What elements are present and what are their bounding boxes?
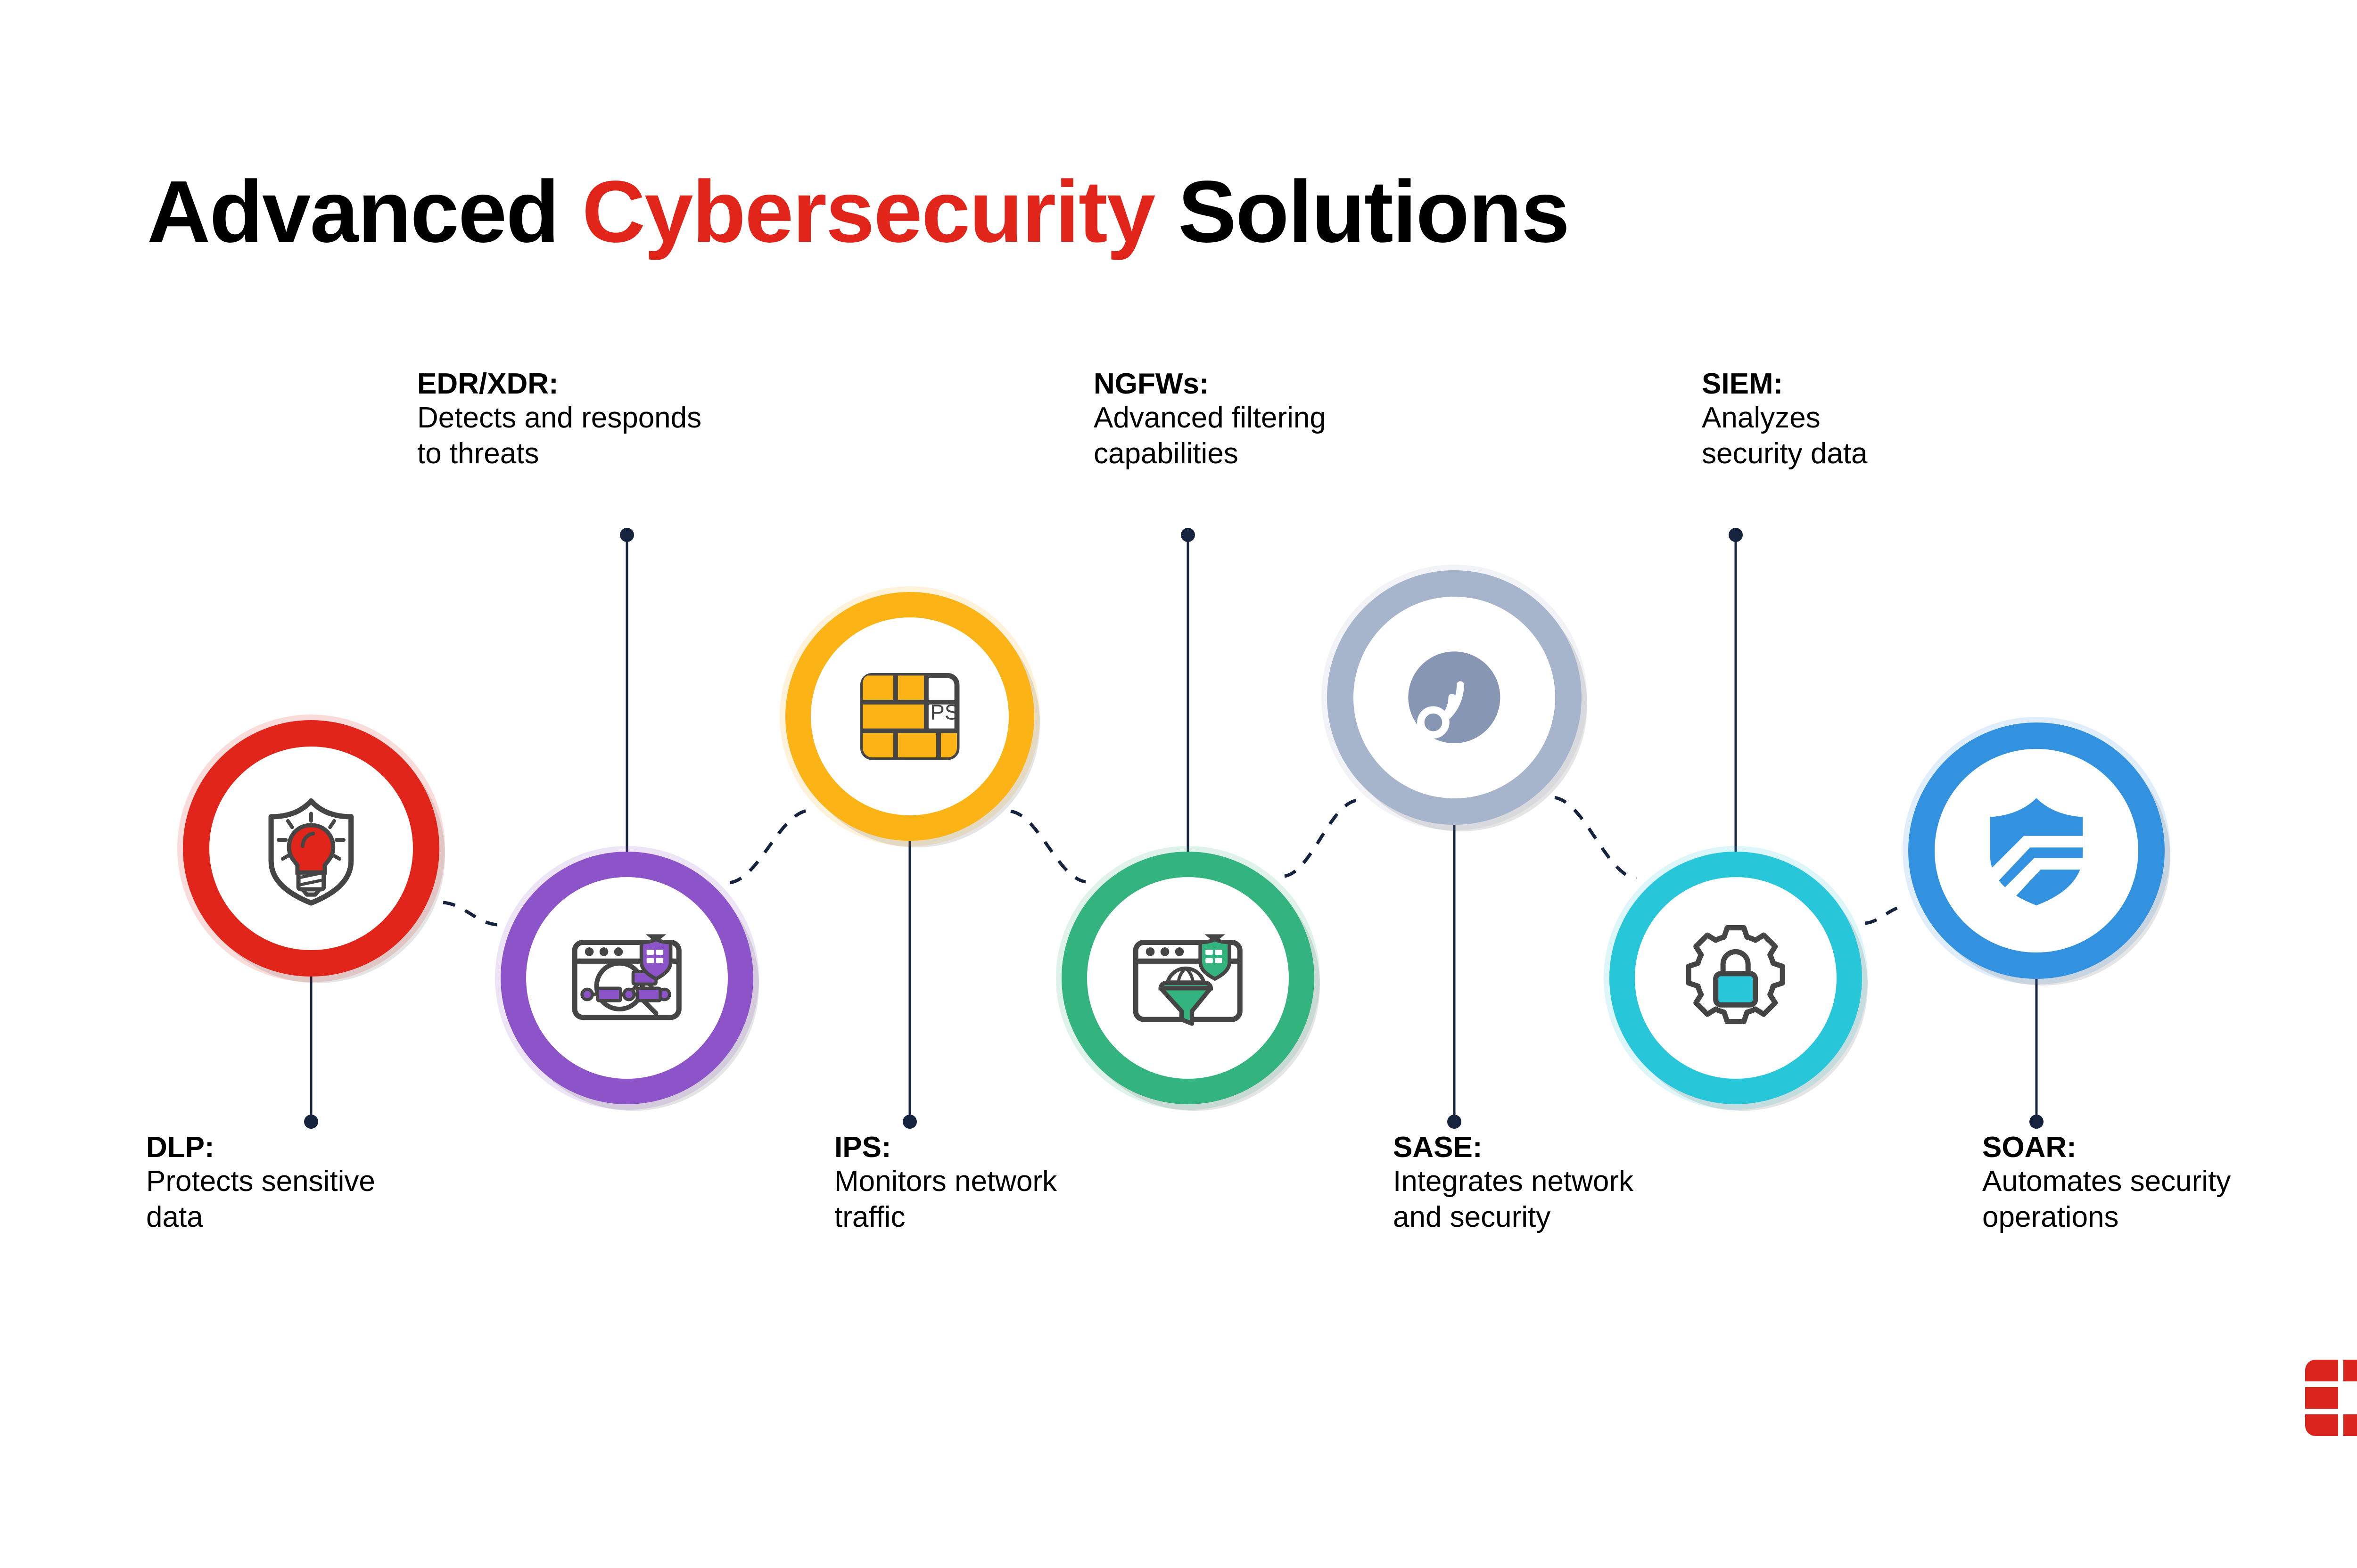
leader-dot-end-siem: [1729, 528, 1743, 542]
leader-dot-end-sase: [1447, 1115, 1461, 1129]
leader-dot-end-ips: [903, 1115, 917, 1129]
callout-heading-dlp: DLP:: [146, 1131, 375, 1164]
arc-sase-to-siem: [1555, 797, 1636, 879]
browser-globe-funnel-shield-icon: [1125, 915, 1250, 1040]
callout-sase: SASE:Integrates network and security: [1393, 1131, 1633, 1235]
callout-body-soar: Automates security operations: [1982, 1164, 2231, 1235]
node-circle-soar[interactable]: [1908, 722, 2165, 979]
leader-dot-end-soar: [2029, 1115, 2044, 1129]
callout-body-ips: Monitors network traffic: [834, 1164, 1057, 1235]
logo-cell: [2343, 1360, 2357, 1381]
callout-dlp: DLP:Protects sensitive data: [146, 1131, 375, 1235]
arc-ips-to-ngfws: [1011, 811, 1086, 882]
shield-stripes-icon: [1973, 788, 2100, 914]
signal-waves-sphere-icon: [1392, 635, 1516, 760]
browser-network-shield-icon: [564, 915, 689, 1040]
callout-heading-ips: IPS:: [834, 1131, 1057, 1164]
node-circle-dlp[interactable]: [183, 720, 439, 977]
arc-siem-to-soar: [1865, 906, 1905, 923]
callout-body-sase: Integrates network and security: [1393, 1164, 1633, 1235]
arc-dlp-to-edr-xdr: [443, 903, 497, 925]
callout-heading-siem: SIEM:: [1702, 368, 1868, 400]
callout-soar: SOAR:Automates security operations: [1982, 1131, 2231, 1235]
node-circle-edr-xdr[interactable]: [501, 852, 753, 1104]
callout-heading-sase: SASE:: [1393, 1131, 1633, 1164]
callout-body-edr-xdr: Detects and responds to threats: [417, 400, 701, 471]
callout-ngfws: NGFWs:Advanced filtering capabilities: [1094, 368, 1326, 472]
callout-heading-soar: SOAR:: [1982, 1131, 2231, 1164]
infographic-stage: IPSDLP:Protects sensitive dataEDR/XDR:De…: [0, 0, 2357, 1568]
svg-text:IPS: IPS: [924, 700, 959, 724]
callout-edr-xdr: EDR/XDR:Detects and responds to threats: [417, 368, 701, 472]
leader-dot-end-ngfws: [1181, 528, 1195, 542]
node-circle-sase[interactable]: [1327, 570, 1582, 825]
logo-cell: [2343, 1414, 2357, 1436]
callout-body-ngfws: Advanced filtering capabilities: [1094, 400, 1326, 471]
node-circle-ips[interactable]: IPS: [785, 592, 1034, 841]
firewall-brick-ips-icon: IPS: [849, 655, 971, 778]
arc-ngfws-to-sase: [1285, 800, 1357, 876]
callout-body-siem: Analyzes security data: [1702, 400, 1868, 471]
node-circle-siem[interactable]: [1609, 852, 1862, 1104]
gear-padlock-icon: [1673, 915, 1798, 1040]
callout-body-dlp: Protects sensitive data: [146, 1164, 375, 1235]
shield-lightbulb-icon: [248, 785, 374, 911]
logo-cell: [2305, 1414, 2338, 1436]
arc-edr-xdr-to-ips: [730, 810, 808, 882]
callout-siem: SIEM:Analyzes security data: [1702, 368, 1868, 472]
node-circle-ngfws[interactable]: [1062, 852, 1314, 1104]
fortinet-logo: [2305, 1360, 2357, 1440]
callout-heading-edr-xdr: EDR/XDR:: [417, 368, 701, 400]
logo-cell: [2305, 1387, 2338, 1409]
logo-cell: [2305, 1360, 2338, 1381]
leader-dot-end-dlp: [304, 1115, 318, 1129]
callout-ips: IPS:Monitors network traffic: [834, 1131, 1057, 1235]
leader-dot-end-edr-xdr: [620, 528, 634, 542]
callout-heading-ngfws: NGFWs:: [1094, 368, 1326, 400]
